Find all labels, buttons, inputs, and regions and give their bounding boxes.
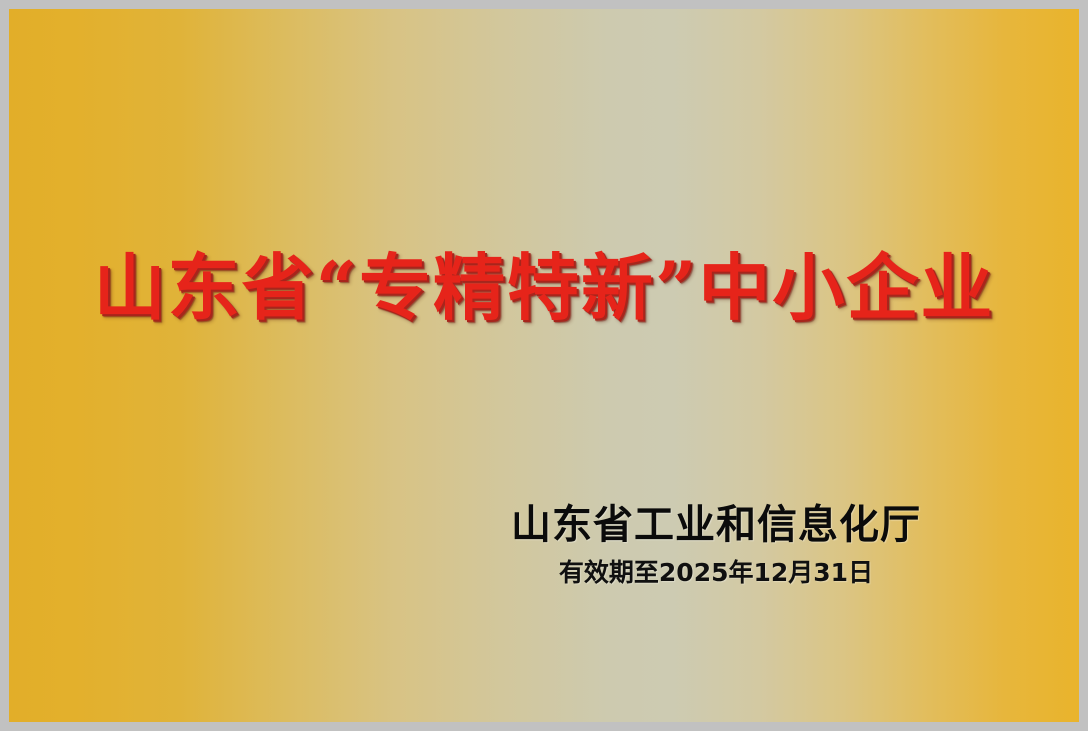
issuing-authority-name: 山东省工业和信息化厅 (511, 503, 921, 548)
plaque-main-title: 山东省“专精特新”中小企业 (94, 252, 995, 324)
validity-date-text: 有效期至2025年12月31日 (511, 559, 921, 587)
plaque-outer-frame: 山东省“专精特新”中小企业 山东省工业和信息化厅 有效期至2025年12月31日 (0, 0, 1088, 731)
issuer-block: 山东省工业和信息化厅 有效期至2025年12月31日 (511, 503, 921, 586)
title-block: 山东省“专精特新”中小企业 (9, 252, 1079, 324)
award-plaque: 山东省“专精特新”中小企业 山东省工业和信息化厅 有效期至2025年12月31日 (9, 9, 1079, 722)
